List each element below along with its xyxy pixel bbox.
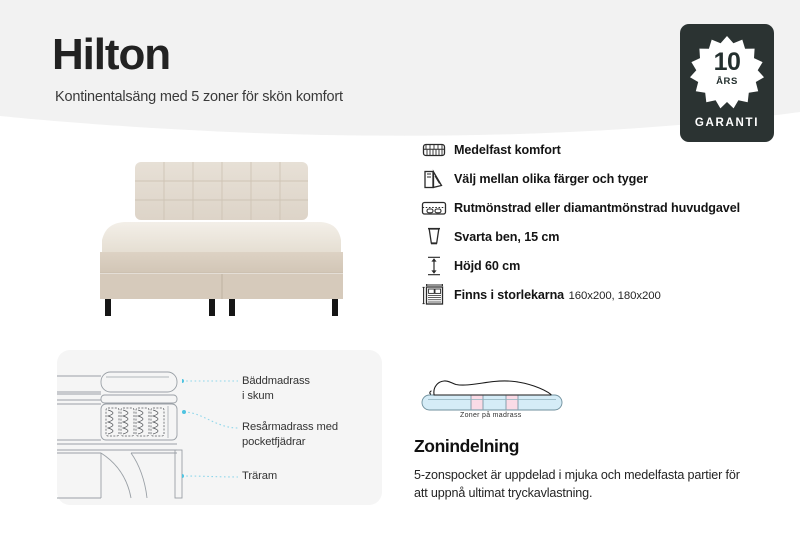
feature-row-comfort: Medelfast komfort — [414, 138, 786, 167]
cutaway-labels: Bäddmadrass i skum Resårmadrass med pock… — [242, 350, 392, 505]
feature-texts: Svarta ben, 15 cm — [454, 225, 559, 246]
headboard-icon — [414, 195, 454, 221]
zone-body-text: 5-zonspocket är uppdelad i mjuka och med… — [414, 466, 749, 503]
feature-row-legs: Svarta ben, 15 cm — [414, 225, 786, 254]
feature-label: Medelfast komfort — [454, 143, 561, 157]
feature-texts: Finns i storlekarna 160x200, 180x200 — [454, 283, 661, 305]
product-image — [72, 143, 372, 333]
zone-section: Zoner på madrass Zonindelning 5-zonspock… — [414, 370, 786, 503]
feature-texts: Höjd 60 cm — [454, 254, 520, 275]
cutaway-label-spring-line1: Resårmadrass med — [242, 421, 338, 433]
feature-sublabel: 160x200, 180x200 — [569, 290, 661, 302]
feature-row-headboard: Rutmönstrad eller diamantmönstrad huvudg… — [414, 196, 786, 225]
product-info-sheet: Hilton Kontinentalsäng med 5 zoner för s… — [0, 0, 800, 533]
mattress-icon — [414, 137, 454, 163]
feature-label: Höjd 60 cm — [454, 259, 520, 273]
zone-title: Zonindelning — [414, 436, 786, 457]
feature-row-fabrics: Välj mellan olika färger och tyger — [414, 167, 786, 196]
feature-label: Svarta ben, 15 cm — [454, 230, 559, 244]
cutaway-label-topper-line1: Bäddmadrass — [242, 375, 310, 387]
bed-size-icon — [414, 282, 454, 308]
page-subtitle: Kontinentalsäng med 5 zoner för skön kom… — [55, 89, 343, 105]
badge-years-label: ÅRS — [680, 77, 774, 87]
cutaway-label-spring-line2: pocketfjädrar — [242, 436, 305, 448]
height-arrow-icon — [414, 253, 454, 279]
feature-row-height: Höjd 60 cm — [414, 254, 786, 283]
feature-label: Välj mellan olika färger och tyger — [454, 172, 648, 186]
feature-label: Finns i storlekarna — [454, 288, 564, 302]
page-title: Hilton — [52, 33, 170, 77]
bed-leg-icon — [414, 224, 454, 250]
feature-list: Medelfast komfort Välj mellan olika färg… — [414, 138, 786, 323]
cutaway-label-topper: Bäddmadrass i skum — [242, 374, 310, 404]
feature-texts: Medelfast komfort — [454, 138, 561, 159]
cutaway-label-frame-line1: Träram — [242, 470, 277, 482]
feature-label: Rutmönstrad eller diamantmönstrad huvudg… — [454, 201, 740, 215]
cutaway-label-wood-frame: Träram — [242, 469, 277, 484]
guarantee-badge: 10 ÅRS GARANTI — [680, 24, 774, 142]
zone-illustration: Zoner på madrass — [418, 370, 578, 420]
cutaway-label-topper-line2: i skum — [242, 390, 274, 402]
cutaway-label-spring-mattress: Resårmadrass med pocketfjädrar — [242, 420, 338, 450]
badge-number: 10 — [680, 50, 774, 75]
feature-texts: Rutmönstrad eller diamantmönstrad huvudg… — [454, 196, 740, 217]
feature-texts: Välj mellan olika färger och tyger — [454, 167, 648, 188]
fabric-swatch-icon — [414, 166, 454, 192]
badge-guarantee-label: GARANTI — [680, 117, 774, 129]
feature-row-sizes: Finns i storlekarna 160x200, 180x200 — [414, 283, 786, 323]
zone-caption: Zoner på madrass — [460, 412, 522, 419]
